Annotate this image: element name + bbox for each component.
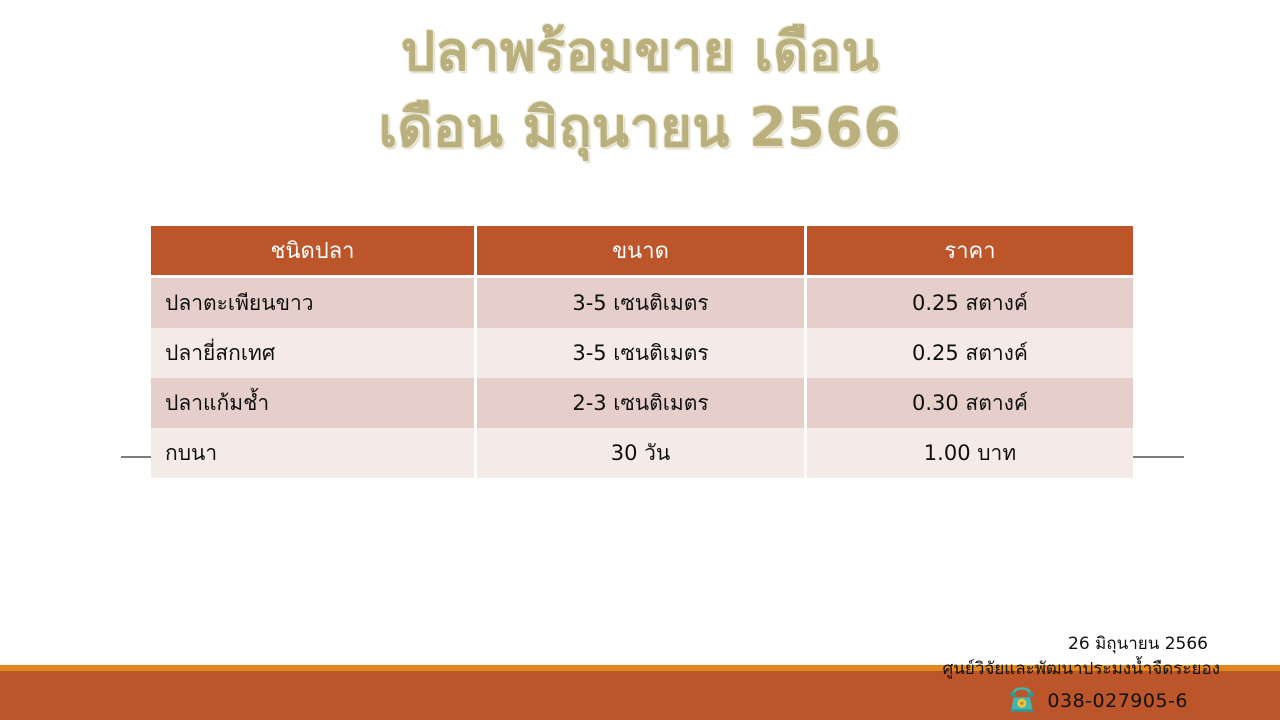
column-header-price: ราคา	[807, 226, 1133, 278]
column-header-size: ขนาด	[477, 226, 804, 278]
cell-price: 1.00 บาท	[807, 428, 1133, 478]
footer-phone-number: 038-027905-6	[1047, 690, 1188, 712]
table-row: ปลาแก้มช้ำ 2-3 เซนติเมตร 0.30 สตางค์	[151, 378, 1133, 428]
telephone-icon	[1007, 684, 1037, 718]
cell-size: 3-5 เซนติเมตร	[477, 278, 804, 328]
table-header-row: ชนิดปลา ขนาด ราคา	[151, 226, 1133, 278]
title-line-1: ปลาพร้อมขาย เดือน	[0, 14, 1280, 90]
page-title: ปลาพร้อมขาย เดือน เดือน มิถุนายน 2566	[0, 14, 1280, 166]
cell-fish-type: ปลายี่สกเทศ	[151, 328, 474, 378]
slide-canvas: ปลาพร้อมขาย เดือน เดือน มิถุนายน 2566 ชน…	[0, 0, 1280, 720]
table-row: กบนา 30 วัน 1.00 บาท	[151, 428, 1133, 478]
footer-date: 26 มิถุนายน 2566	[1068, 630, 1208, 657]
table-header: ชนิดปลา ขนาด ราคา	[151, 226, 1133, 278]
cell-fish-type: กบนา	[151, 428, 474, 478]
cell-fish-type: ปลาแก้มช้ำ	[151, 378, 474, 428]
cell-price: 0.30 สตางค์	[807, 378, 1133, 428]
cell-size: 3-5 เซนติเมตร	[477, 328, 804, 378]
table-body: ปลาตะเพียนขาว 3-5 เซนติเมตร 0.25 สตางค์ …	[151, 278, 1133, 478]
cell-price: 0.25 สตางค์	[807, 328, 1133, 378]
fish-price-table: ชนิดปลา ขนาด ราคา ปลาตะเพียนขาว 3-5 เซนต…	[148, 226, 1136, 478]
cell-fish-type: ปลาตะเพียนขาว	[151, 278, 474, 328]
column-header-fish-type: ชนิดปลา	[151, 226, 474, 278]
title-line-2: เดือน มิถุนายน 2566	[0, 90, 1280, 166]
footer-organization-name: ศูนย์วิจัยและพัฒนาประมงน้ำจืดระยอง	[942, 655, 1220, 682]
table-row: ปลายี่สกเทศ 3-5 เซนติเมตร 0.25 สตางค์	[151, 328, 1133, 378]
cell-size: 2-3 เซนติเมตร	[477, 378, 804, 428]
fish-price-table-container: ชนิดปลา ขนาด ราคา ปลาตะเพียนขาว 3-5 เซนต…	[151, 226, 1133, 478]
table-row: ปลาตะเพียนขาว 3-5 เซนติเมตร 0.25 สตางค์	[151, 278, 1133, 328]
cell-price: 0.25 สตางค์	[807, 278, 1133, 328]
cell-size: 30 วัน	[477, 428, 804, 478]
footer-contact: 038-027905-6	[1007, 684, 1188, 718]
